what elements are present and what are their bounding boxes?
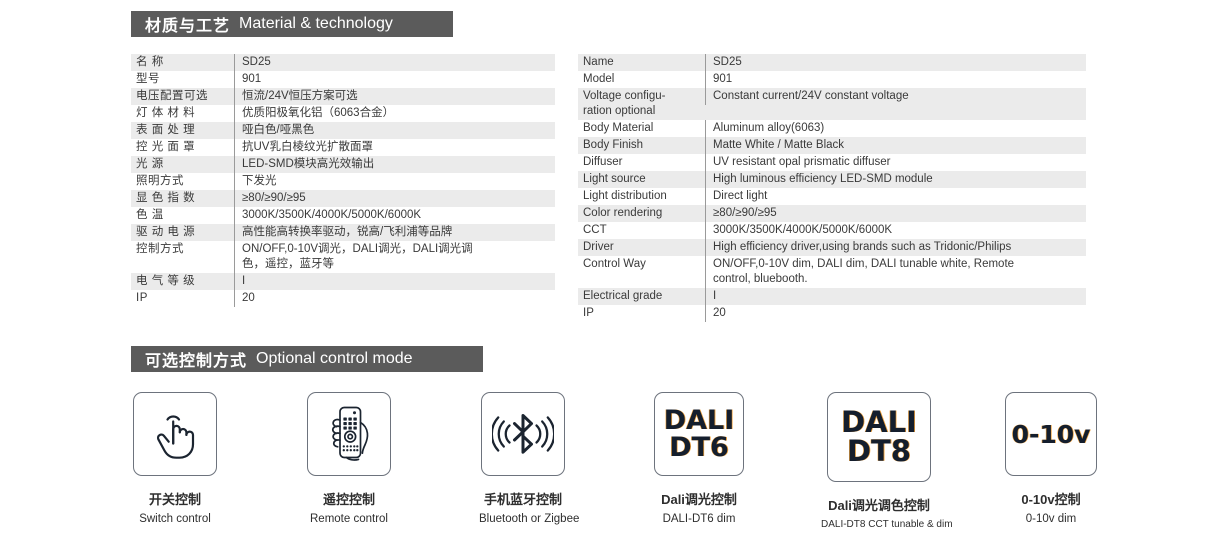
section-header-material-cn: 材质与工艺 [145,12,230,36]
spec-row: 控 光 面 罩抗UV乳白棱纹光扩散面罩 [131,139,555,156]
control-mode-caption-en: Bluetooth or Zigbee [479,513,567,525]
spec-row-value: Matte White / Matte Black [705,137,1086,154]
spec-row-value: ON/OFF,0-10V dim, DALI dim, DALI tunable… [705,256,1086,288]
spec-row: Light distributionDirect light [578,188,1086,205]
spec-row-value: LED-SMD模块高光效输出 [234,156,555,173]
control-mode-list: 开关控制Switch control [131,392,1098,537]
control-mode-caption-cn: 遥控控制 [305,489,393,508]
spec-row: 电压配置可选恒流/24V恒压方案可选 [131,88,555,105]
spec-row: Body MaterialAluminum alloy(6063) [578,120,1086,137]
spec-row-value: 20 [705,305,1086,322]
spec-row-label: 显 色 指 数 [131,190,234,207]
control-mode-caption-en: DALI-DT6 dim [651,513,747,525]
dali-dt8-badge[interactable]: DALI DT8 [827,392,931,482]
spec-row-value: ≥80/≥90/≥95 [234,190,555,207]
spec-row-label: Name [578,54,705,71]
spec-row: Body FinishMatte White / Matte Black [578,137,1086,154]
spec-row: DiffuserUV resistant opal prismatic diff… [578,154,1086,171]
control-mode-item[interactable]: 0-10v0-10v控制0-10v dim [1003,392,1099,525]
spec-row-label: 色 温 [131,207,234,224]
spec-row-label: Color rendering [578,205,705,222]
spec-row: IP20 [578,305,1086,322]
spec-row-value: 恒流/24V恒压方案可选 [234,88,555,105]
spec-row-label: 驱 动 电 源 [131,224,234,241]
spec-row-label: Model [578,71,705,88]
spec-row: 光 源LED-SMD模块高光效输出 [131,156,555,173]
bluetooth-icon-glyph [492,411,554,457]
spec-row-value: ≥80/≥90/≥95 [705,205,1086,222]
control-mode-caption-cn: 开关控制 [131,489,219,508]
remote-hand-icon[interactable] [307,392,391,476]
spec-row-label: 照明方式 [131,173,234,190]
dali-dt6-badge-label: DALI DT6 [664,407,735,461]
spec-row: 灯 体 材 料优质阳极氧化铝（6063合金） [131,105,555,122]
spec-row: CCT3000K/3500K/4000K/5000K/6000K [578,222,1086,239]
spec-row-label: 控 光 面 罩 [131,139,234,156]
spec-row-value: 优质阳极氧化铝（6063合金） [234,105,555,122]
spec-row-value: 3000K/3500K/4000K/5000K/6000K [234,207,555,224]
spec-row-label: 光 源 [131,156,234,173]
spec-row-label: Driver [578,239,705,256]
spec-row-label: 名 称 [131,54,234,71]
spec-row-value: SD25 [234,54,555,71]
spec-row-label: Voltage configu- ration optional [578,88,705,120]
spec-row-label: 电 气 等 级 [131,273,234,290]
spec-table-english: NameSD25Model901Voltage configu- ration … [578,54,1086,322]
section-header-material: 材质与工艺 Material & technology [131,11,453,37]
spec-row: Electrical gradeI [578,288,1086,305]
spec-row: 色 温3000K/3500K/4000K/5000K/6000K [131,207,555,224]
spec-row-value: ON/OFF,0-10V调光，DALI调光，DALI调光调 色，遥控，蓝牙等 [234,241,555,273]
spec-table-chinese: 名 称SD25型号901电压配置可选恒流/24V恒压方案可选灯 体 材 料优质阳… [131,54,555,307]
spec-row-label: CCT [578,222,705,239]
spec-row-label: 灯 体 材 料 [131,105,234,122]
spec-row-value: Aluminum alloy(6063) [705,120,1086,137]
spec-row: 照明方式下发光 [131,173,555,190]
spec-row-value: I [234,273,555,290]
spec-row-value: 高性能高转换率驱动，锐高/飞利浦等品牌 [234,224,555,241]
section-header-control-mode-en: Optional control mode [256,350,413,368]
spec-row: Model901 [578,71,1086,88]
spec-row-value: UV resistant opal prismatic diffuser [705,154,1086,171]
control-mode-caption-en: Switch control [131,513,219,525]
spec-row-label: 型号 [131,71,234,88]
spec-row-label: Diffuser [578,154,705,171]
spec-row: 控制方式ON/OFF,0-10V调光，DALI调光，DALI调光调 色，遥控，蓝… [131,241,555,273]
spec-row-label: 控制方式 [131,241,234,258]
spec-row-label: Electrical grade [578,288,705,305]
section-header-control-mode: 可选控制方式 Optional control mode [131,346,483,372]
control-mode-item[interactable]: DALI DT8Dali调光调色控制DALI-DT8 CCT tunable &… [821,392,937,530]
control-mode-caption-en: Remote control [305,513,393,525]
spec-row: Color rendering≥80/≥90/≥95 [578,205,1086,222]
spec-row-label: Body Finish [578,137,705,154]
spec-row: 表 面 处 理哑白色/哑黑色 [131,122,555,139]
spec-row-value: 哑白色/哑黑色 [234,122,555,139]
control-mode-caption-cn: 手机蓝牙控制 [479,489,567,508]
spec-row: Light sourceHigh luminous efficiency LED… [578,171,1086,188]
spec-row-value: High luminous efficiency LED-SMD module [705,171,1086,188]
spec-row: 显 色 指 数≥80/≥90/≥95 [131,190,555,207]
spec-row-label: Light source [578,171,705,188]
spec-row-value: 下发光 [234,173,555,190]
control-mode-caption-cn: Dali调光调色控制 [821,495,937,514]
remote-hand-icon-glyph [321,403,377,465]
spec-row-value: 20 [234,290,555,307]
control-mode-caption-en: 0-10v dim [1003,513,1099,525]
spec-row-value: 抗UV乳白棱纹光扩散面罩 [234,139,555,156]
spec-row: 名 称SD25 [131,54,555,71]
control-mode-item[interactable]: 遥控控制Remote control [305,392,393,525]
spec-row-label: IP [131,290,234,307]
spec-row-value: SD25 [705,54,1086,71]
control-mode-item[interactable]: 手机蓝牙控制Bluetooth or Zigbee [479,392,567,525]
spec-row: IP20 [131,290,555,307]
spec-row: 电 气 等 级I [131,273,555,290]
spec-row-value: 3000K/3500K/4000K/5000K/6000K [705,222,1086,239]
control-mode-item[interactable]: DALI DT6Dali调光控制DALI-DT6 dim [651,392,747,525]
spec-row-value: 901 [705,71,1086,88]
spec-row-label: IP [578,305,705,322]
tap-hand-icon[interactable] [133,392,217,476]
spec-row: Voltage configu- ration optionalConstant… [578,88,1086,120]
section-header-material-en: Material & technology [239,15,393,33]
spec-row: 型号901 [131,71,555,88]
control-mode-caption-cn: Dali调光控制 [651,489,747,508]
spec-row-value: I [705,288,1086,305]
spec-row-value: Direct light [705,188,1086,205]
tap-hand-icon-glyph [147,405,203,463]
control-mode-item[interactable]: 开关控制Switch control [131,392,219,525]
control-mode-caption-en: DALI-DT8 CCT tunable & dim [821,519,937,530]
spec-row-label: 表 面 处 理 [131,122,234,139]
spec-row: 驱 动 电 源高性能高转换率驱动，锐高/飞利浦等品牌 [131,224,555,241]
spec-row-label: Control Way [578,256,705,273]
spec-row: Control WayON/OFF,0-10V dim, DALI dim, D… [578,256,1086,288]
spec-row-label: 电压配置可选 [131,88,234,105]
spec-row-value: Constant current/24V constant voltage [705,88,1086,105]
spec-row-value: High efficiency driver,using brands such… [705,239,1086,256]
dali-dt6-badge[interactable]: DALI DT6 [654,392,744,476]
spec-row: NameSD25 [578,54,1086,71]
bluetooth-icon[interactable] [481,392,565,476]
spec-row: DriverHigh efficiency driver,using brand… [578,239,1086,256]
section-header-control-mode-cn: 可选控制方式 [145,347,247,371]
spec-row-label: Body Material [578,120,705,137]
zero-ten-v-badge-label: 0-10v [1012,422,1091,447]
zero-ten-v-badge[interactable]: 0-10v [1005,392,1097,476]
control-mode-caption-cn: 0-10v控制 [1003,489,1099,508]
spec-row-value: 901 [234,71,555,88]
spec-row-label: Light distribution [578,188,705,205]
dali-dt8-badge-label: DALI DT8 [841,408,917,466]
